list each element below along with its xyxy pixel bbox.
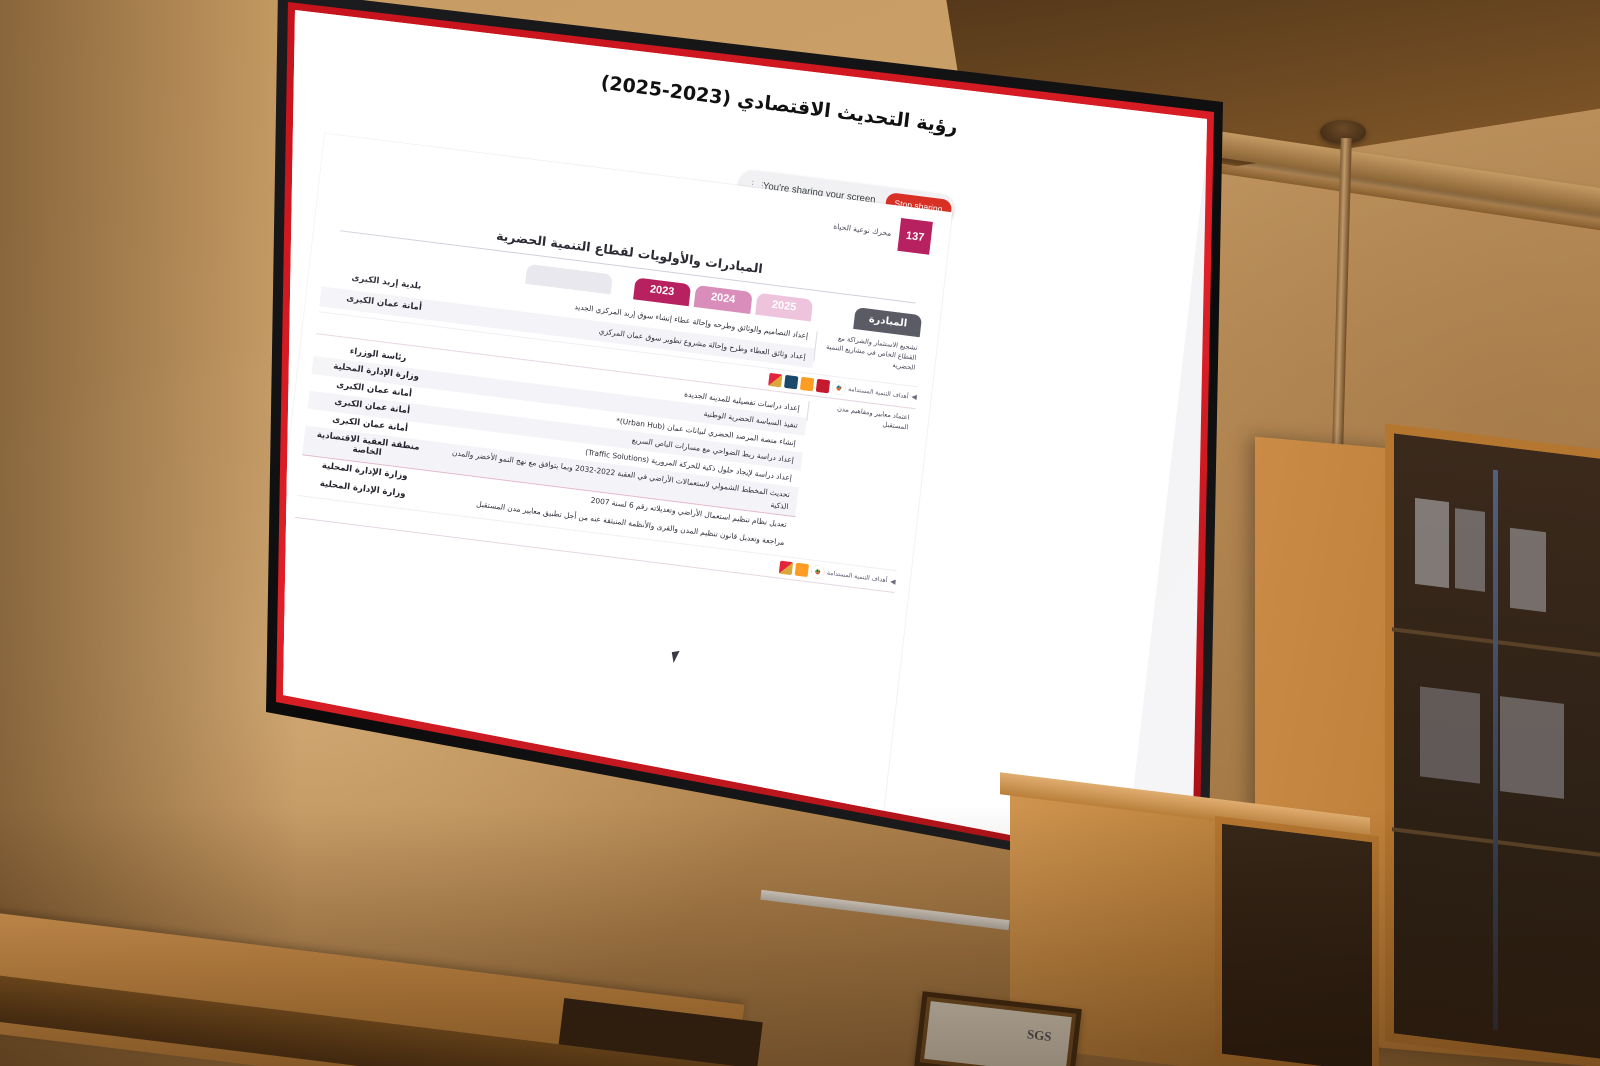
wall-mounted-display: ⋮⋮ You're sharing your screen Stop shari… xyxy=(248,0,1238,912)
slide-number-badge: 137 xyxy=(897,218,933,255)
tab-2025[interactable]: 2025 xyxy=(755,293,814,322)
sdg-goal-mixed-icon xyxy=(768,373,782,388)
sdg-wheel-icon xyxy=(832,381,846,396)
sdg-goal-orange-icon xyxy=(800,377,814,392)
mouse-cursor xyxy=(672,651,682,663)
cell-initiative: تشجيع الاستثمار والشراكة مع القطاع الخاص… xyxy=(813,331,923,374)
ministry-logo xyxy=(907,134,952,192)
shelf-document xyxy=(1455,508,1485,592)
sdg-goal-red-icon xyxy=(816,379,830,394)
shelf-document xyxy=(1415,498,1449,588)
tab-2023[interactable]: 2023 xyxy=(633,277,692,306)
slide-tagline: محرك نوعية الحياة xyxy=(833,222,892,238)
sdg-arrow-icon: ◀ xyxy=(890,577,896,586)
shelf-document xyxy=(1420,686,1480,783)
wall-shadow-bottom xyxy=(0,806,1600,1066)
sdg-goal-mixed-icon xyxy=(779,561,793,576)
logo-glyph xyxy=(916,134,952,177)
sdg-goal-navy-icon xyxy=(784,375,798,390)
slide-page-number: 2 xyxy=(270,726,275,735)
slide-top-rule xyxy=(325,134,952,212)
sdg-wheel-icon xyxy=(810,565,824,580)
tab-2024[interactable]: 2024 xyxy=(694,285,753,314)
tv-screen: ⋮⋮ You're sharing your screen Stop shari… xyxy=(248,0,1238,912)
sdg-arrow-icon: ◀ xyxy=(911,393,917,402)
tab-strip-spacer xyxy=(525,264,613,295)
shelf-document xyxy=(1500,696,1564,799)
screen-content-plane: ⋮⋮ You're sharing your screen Stop shari… xyxy=(248,0,1211,911)
room-photo-scene: مبادرة اعتماد معايير ومفاهيم مدن المستقب… xyxy=(0,0,1600,1066)
shelf-document xyxy=(1510,528,1546,612)
sdg-label: أهداف التنمية المستدامة xyxy=(827,570,888,585)
initiatives-table: تشجيع الاستثمار والشراكة مع القطاع الخاص… xyxy=(295,265,923,594)
sdg-goal-orange-icon xyxy=(795,563,809,578)
sdg-label: أهداف التنمية المستدامة xyxy=(848,386,909,401)
